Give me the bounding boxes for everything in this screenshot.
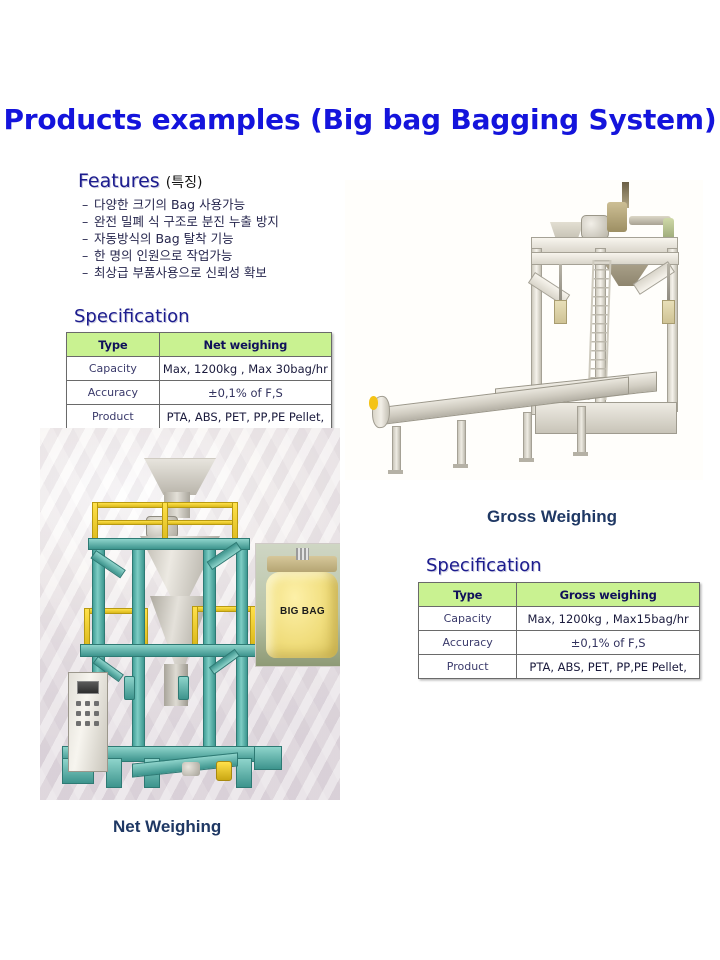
row-value-capacity: Max, 1200kg , Max15bag/hr [517, 607, 700, 631]
features-heading: Features (특징) [78, 170, 368, 192]
feature-item: –최상급 부품사용으로 신뢰성 확보 [82, 264, 368, 281]
table-row: Product PTA, ABS, PET, PP,PE Pellet, [419, 655, 700, 679]
net-weighing-caption: Net Weighing [113, 817, 221, 837]
machine-base-frame [535, 402, 677, 434]
spec-gross-heading: Specification [426, 555, 542, 576]
row-key-capacity: Capacity [67, 357, 160, 381]
control-button[interactable] [94, 701, 99, 706]
control-button[interactable] [76, 711, 81, 716]
row-value-capacity: Max, 1200kg , Max 30bag/hr [159, 357, 331, 381]
features-heading-korean: (특징) [166, 175, 203, 191]
feature-item: –다양한 크기의 Bag 사용가능 [82, 196, 368, 213]
table-row: Accuracy ±0,1% of F,S [419, 631, 700, 655]
row-value-accuracy: ±0,1% of F,S [159, 381, 331, 405]
features-block: Features (특징) –다양한 크기의 Bag 사용가능 –완전 밀폐 식… [78, 170, 368, 281]
bullet-dash-icon: – [82, 264, 94, 281]
control-button[interactable] [76, 721, 81, 726]
base-foot [236, 758, 252, 788]
bullet-dash-icon: – [82, 247, 94, 264]
features-list: –다양한 크기의 Bag 사용가능 –완전 밀폐 식 구조로 분진 누출 방지 … [78, 196, 368, 281]
column-header-type: Type [419, 583, 517, 607]
gross-weighing-photo [345, 180, 703, 480]
spec-gross-table: Type Gross weighing Capacity Max, 1200kg… [418, 582, 700, 679]
net-weighing-photo: BIG BAG [40, 428, 340, 800]
drive-motor [581, 215, 609, 239]
slide-canvas: Products examples (Big bag Bagging Syste… [0, 0, 720, 960]
column-header-value: Net weighing [159, 333, 331, 357]
row-key-capacity: Capacity [419, 607, 517, 631]
table-row: Capacity Max, 1200kg , Max 30bag/hr [67, 357, 332, 381]
gross-weighing-caption: Gross Weighing [487, 507, 617, 527]
spec-net-heading: Specification [74, 306, 190, 327]
control-button[interactable] [94, 711, 99, 716]
bullet-dash-icon: – [82, 196, 94, 213]
table-row: Capacity Max, 1200kg , Max15bag/hr [419, 607, 700, 631]
row-value-product: PTA, ABS, PET, PP,PE Pellet, [159, 405, 331, 429]
feature-item: –자동방식의 Bag 탈착 기능 [82, 230, 368, 247]
big-bag-label: BIG BAG [256, 606, 340, 617]
leg-foot [519, 458, 534, 462]
row-key-product: Product [67, 405, 160, 429]
page-title: Products examples (Big bag Bagging Syste… [0, 103, 720, 136]
control-button[interactable] [76, 701, 81, 706]
roller-guard-icon [369, 396, 378, 410]
table-row: Product PTA, ABS, PET, PP,PE Pellet, [67, 405, 332, 429]
bag-hook-weight-right [178, 676, 189, 700]
leg-foot [573, 452, 588, 456]
conveyor-roller-guard-icon [216, 761, 232, 781]
bag-hook-weight-left [124, 676, 135, 700]
row-key-accuracy: Accuracy [419, 631, 517, 655]
control-button[interactable] [85, 701, 90, 706]
bag-hook-chain-right [667, 264, 670, 302]
bag-hook-left [554, 300, 567, 324]
handrail-post [84, 608, 90, 648]
feature-item-label: 자동방식의 Bag 탈착 기능 [94, 231, 234, 246]
features-heading-text: Features [78, 170, 160, 192]
row-key-product: Product [419, 655, 517, 679]
handrail-post [192, 606, 198, 646]
conveyor-leg [577, 406, 586, 454]
bag-hook-chain-left [559, 264, 562, 302]
column-header-type: Type [67, 333, 160, 357]
lifting-hook-icon [296, 548, 309, 560]
leg-foot [388, 470, 403, 474]
table-header-row: Type Net weighing [67, 333, 332, 357]
row-value-product: PTA, ABS, PET, PP,PE Pellet, [517, 655, 700, 679]
bullet-dash-icon: – [82, 230, 94, 247]
row-value-accuracy: ±0,1% of F,S [517, 631, 700, 655]
control-cabinet [68, 672, 108, 772]
table-header-row: Type Gross weighing [419, 583, 700, 607]
table-row: Accuracy ±0,1% of F,S [67, 381, 332, 405]
spec-net-table: Type Net weighing Capacity Max, 1200kg ,… [66, 332, 332, 429]
bag-hook-right [662, 300, 675, 324]
row-key-accuracy: Accuracy [67, 381, 160, 405]
conveyor-leg [392, 426, 401, 472]
feature-item-label: 최상급 부품사용으로 신뢰성 확보 [94, 265, 267, 280]
control-button[interactable] [85, 711, 90, 716]
control-button[interactable] [85, 721, 90, 726]
feature-item: –한 명의 인원으로 작업가능 [82, 247, 368, 264]
base-foot [254, 746, 282, 770]
gross-machine-illustration [345, 180, 703, 480]
feature-item: –완전 밀폐 식 구조로 분진 누출 방지 [82, 213, 368, 230]
leg-foot [453, 464, 468, 468]
conveyor-motor [182, 762, 200, 776]
conveyor-leg [523, 412, 532, 460]
feature-item-label: 완전 밀폐 식 구조로 분진 누출 방지 [94, 214, 279, 229]
rotary-valve [607, 202, 627, 232]
big-bag-inset-photo: BIG BAG [255, 543, 340, 667]
base-foot [106, 758, 122, 788]
column-header-value: Gross weighing [517, 583, 700, 607]
feature-item-label: 다양한 크기의 Bag 사용가능 [94, 197, 245, 212]
bullet-dash-icon: – [82, 213, 94, 230]
conveyor-leg [457, 420, 466, 466]
display-screen [77, 681, 99, 694]
control-button[interactable] [94, 721, 99, 726]
feature-item-label: 한 명의 인원으로 작업가능 [94, 248, 232, 263]
